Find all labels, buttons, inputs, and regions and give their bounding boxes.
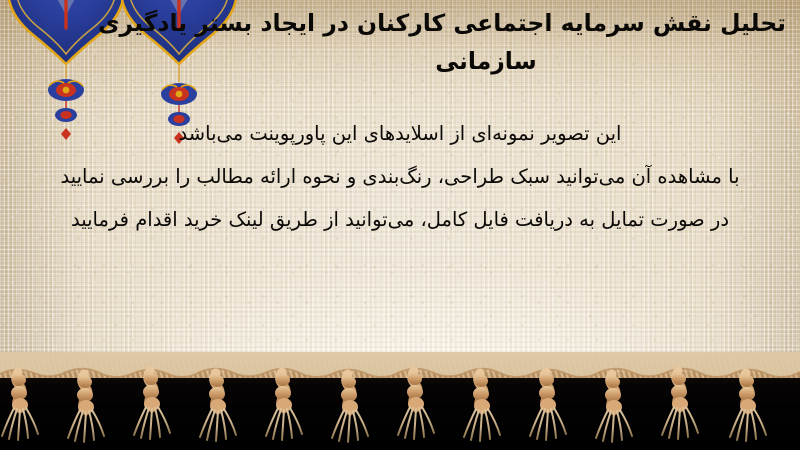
body-line-2: با مشاهده آن می‌توانید سبک طراحی، رنگ‌بن… [18,155,782,198]
body-line-3: در صورت تمایل به دریافت فایل کامل، می‌تو… [18,198,782,241]
body-line-1: این تصویر نمونه‌ای از اسلایدهای این پاور… [18,112,782,155]
slide-title: تحلیل نقش سرمایه اجتماعی کارکنان در ایجا… [186,4,786,80]
knotted-tassel-fringe [0,352,800,450]
tassel-group [0,352,800,450]
title-line-1: تحلیل نقش سرمایه اجتماعی کارکنان در ایجا… [186,4,786,42]
title-line-2: سازمانی [186,42,786,80]
slide-body-text: این تصویر نمونه‌ای از اسلایدهای این پاور… [18,112,782,241]
presentation-slide: تحلیل نقش سرمایه اجتماعی کارکنان در ایجا… [0,0,800,450]
